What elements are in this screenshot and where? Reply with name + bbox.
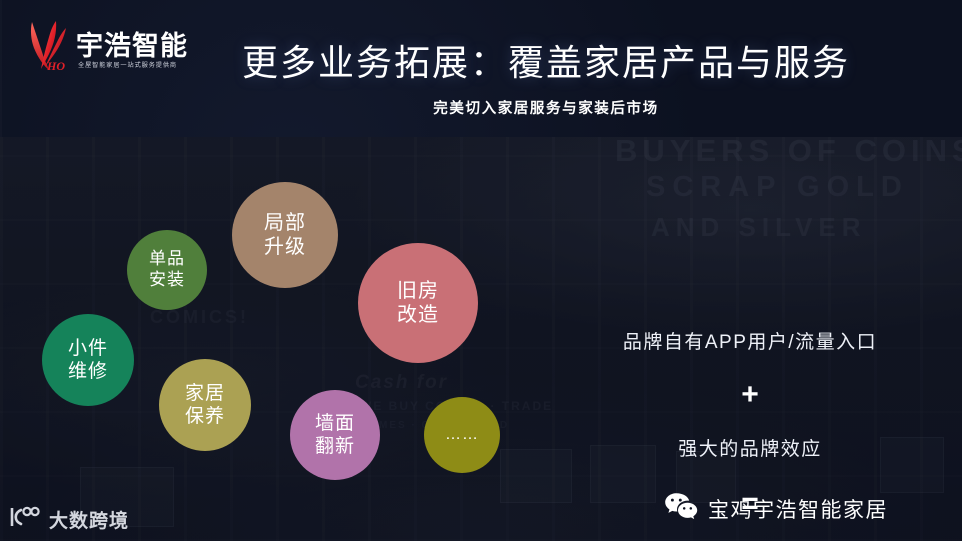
service-bubble-label-line: 家居 xyxy=(185,382,225,405)
service-bubble-label: 旧房改造 xyxy=(397,279,439,328)
wechat-icon xyxy=(664,492,698,525)
slide-header: HO 宇浩智能 全屋智能家居一站式服务提供商 更多业务拓展：覆盖家居产品与服务 … xyxy=(0,0,962,137)
page-subtitle: 完美切入家居服务与家装后市场 xyxy=(0,97,962,118)
service-bubble-label: 单品安装 xyxy=(149,249,185,290)
formula-line-2: 强大的品牌效应 xyxy=(560,434,940,461)
service-bubble-label-line: 旧房 xyxy=(397,279,439,303)
watermark-label: 大数跨境 xyxy=(49,506,129,533)
dashu-logo-icon xyxy=(8,504,42,535)
service-bubble-label-line: 保养 xyxy=(185,405,225,428)
service-bubble-label-line: 墙面 xyxy=(315,412,355,435)
service-bubble-label: …… xyxy=(445,425,479,445)
service-bubble-label-line: 单品 xyxy=(149,249,185,270)
service-bubble-old-house-remodel[interactable]: 旧房改造 xyxy=(358,243,478,363)
service-bubble-label-line: …… xyxy=(445,425,479,445)
service-bubble-label: 家居保养 xyxy=(185,382,225,428)
service-bubble-wall-refresh[interactable]: 墙面翻新 xyxy=(290,390,380,480)
service-bubble-label-line: 翻新 xyxy=(315,435,355,458)
service-bubble-partial-upgrade[interactable]: 局部升级 xyxy=(232,182,338,288)
formula-line-1: 品牌自有APP用户/流量入口 xyxy=(560,327,940,354)
service-bubble-small-repair[interactable]: 小件维修 xyxy=(42,314,134,406)
service-bubble-label-line: 安装 xyxy=(149,270,185,291)
content-stage: BUYERS OF COINS SCRAP GOLD AND SILVER CO… xyxy=(0,137,962,541)
service-bubble-label-line: 小件 xyxy=(68,337,108,360)
formula-plus-operator: + xyxy=(560,380,940,410)
slide-root: HO 宇浩智能 全屋智能家居一站式服务提供商 更多业务拓展：覆盖家居产品与服务 … xyxy=(0,0,962,541)
page-title: 更多业务拓展：覆盖家居产品与服务 xyxy=(0,34,962,86)
service-bubble-label-line: 维修 xyxy=(68,360,108,383)
service-bubble-label-line: 改造 xyxy=(397,303,439,327)
service-bubble-label-line: 升级 xyxy=(264,235,306,259)
service-bubble-label: 小件维修 xyxy=(68,337,108,383)
service-bubble-single-install[interactable]: 单品安装 xyxy=(127,230,207,310)
service-bubble-label: 局部升级 xyxy=(264,211,306,260)
wechat-account[interactable]: 宝鸡宇浩智能家居 xyxy=(664,492,888,525)
service-bubble-more-etc[interactable]: …… xyxy=(424,397,500,473)
service-bubble-label: 墙面翻新 xyxy=(315,412,355,458)
watermark: 大数跨境 xyxy=(8,504,129,535)
wechat-account-name: 宝鸡宇浩智能家居 xyxy=(708,494,888,524)
service-bubble-home-maintenance[interactable]: 家居保养 xyxy=(159,359,251,451)
service-bubble-label-line: 局部 xyxy=(264,211,306,235)
